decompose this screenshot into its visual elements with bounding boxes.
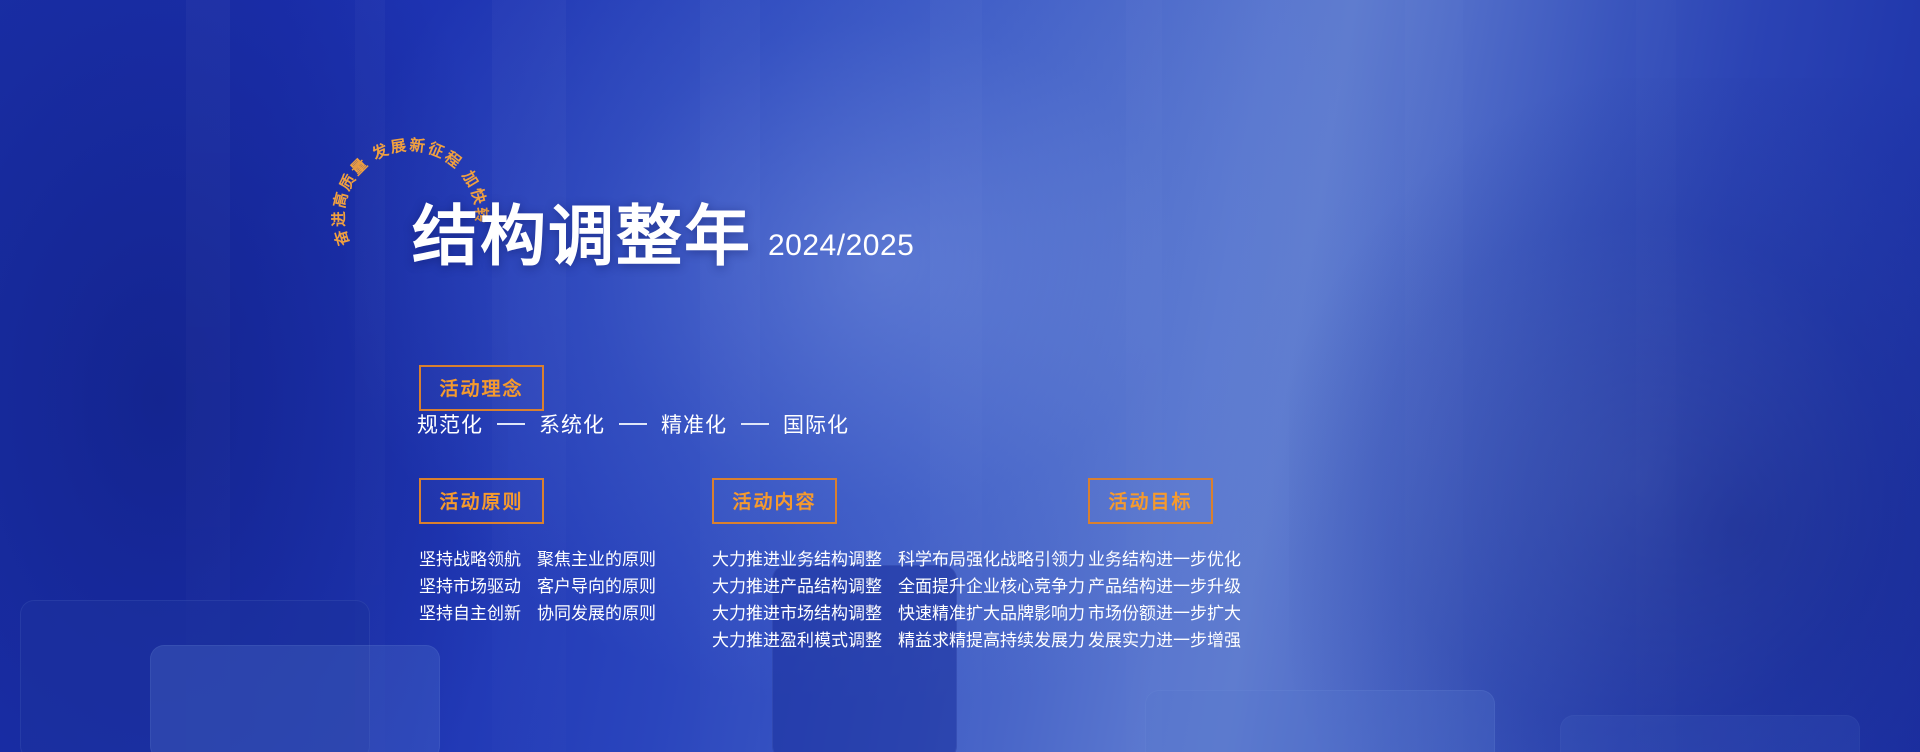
title-row: 结构调整年 2024/2025 [412,204,914,270]
list-item-text-a: 大力推进市场结构调整 [712,601,882,628]
campaign-banner: 奋进高质量 发展新征程 加快转型 增动能 结构调整年 2024/2025 活动理… [0,0,1920,752]
separator-dash [497,423,525,425]
concept-item: 规范化 [417,409,483,439]
list-item-text-a: 发展实力进一步增强 [1088,628,1241,655]
goals-list: 业务结构进一步优化 产品结构进一步升级 市场份额进一步扩大 发展实力进一步增强 [1088,547,1241,655]
list-item-text-a: 业务结构进一步优化 [1088,547,1241,574]
skyline-block [150,645,440,752]
list-item: 大力推进产品结构调整 全面提升企业核心竞争力 [712,574,1085,601]
background-glow-bottom-right [1289,78,1920,752]
contents-list: 大力推进业务结构调整 科学布局强化战略引领力 大力推进产品结构调整 全面提升企业… [712,547,1085,655]
column-principles: 活动原则 坚持战略领航 聚焦主业的原则 坚持市场驱动 客户导向的原则 坚持自主创… [419,478,656,628]
list-item-text-b: 快速精准扩大品牌影响力 [898,601,1085,628]
skyline-block [1560,715,1860,752]
light-band [1636,0,1676,752]
list-item: 坚持市场驱动 客户导向的原则 [419,574,656,601]
list-item-text-a: 产品结构进一步升级 [1088,574,1241,601]
list-item-text-a: 大力推进产品结构调整 [712,574,882,601]
concept-item: 国际化 [783,409,849,439]
list-item: 坚持自主创新 协同发展的原则 [419,601,656,628]
page-title: 结构调整年 [412,204,752,270]
list-item: 产品结构进一步升级 [1088,574,1241,601]
separator-dash [741,423,769,425]
principles-list: 坚持战略领航 聚焦主业的原则 坚持市场驱动 客户导向的原则 坚持自主创新 协同发… [419,547,656,628]
list-item: 大力推进盈利模式调整 精益求精提高持续发展力 [712,628,1085,655]
list-item-text-b: 协同发展的原则 [537,601,656,628]
concept-item-list: 规范化 系统化 精准化 国际化 [417,409,849,439]
list-item-text-b: 聚焦主业的原则 [537,547,656,574]
list-item: 大力推进市场结构调整 快速精准扩大品牌影响力 [712,601,1085,628]
section-label-principles: 活动原则 [419,478,544,524]
concept-item: 精准化 [661,409,727,439]
list-item-text-b: 客户导向的原则 [537,574,656,601]
list-item-text-a: 坚持战略领航 [419,547,521,574]
list-item: 大力推进业务结构调整 科学布局强化战略引领力 [712,547,1085,574]
list-item-text-a: 大力推进业务结构调整 [712,547,882,574]
list-item: 业务结构进一步优化 [1088,547,1241,574]
list-item-text-b: 精益求精提高持续发展力 [898,628,1085,655]
skyline-block [1145,690,1495,752]
background-glow-right [1235,75,1920,752]
list-item: 市场份额进一步扩大 [1088,601,1241,628]
section-label-concept: 活动理念 [419,365,544,411]
section-label-contents: 活动内容 [712,478,837,524]
light-band [1405,0,1463,752]
title-year: 2024/2025 [768,229,914,270]
section-label-goals: 活动目标 [1088,478,1213,524]
list-item-text-b: 全面提升企业核心竞争力 [898,574,1085,601]
column-contents: 活动内容 大力推进业务结构调整 科学布局强化战略引领力 大力推进产品结构调整 全… [712,478,1085,655]
separator-dash [619,423,647,425]
concept-item: 系统化 [539,409,605,439]
column-goals: 活动目标 业务结构进一步优化 产品结构进一步升级 市场份额进一步扩大 发展实力进… [1088,478,1241,655]
list-item-text-b: 科学布局强化战略引领力 [898,547,1085,574]
list-item: 坚持战略领航 聚焦主业的原则 [419,547,656,574]
list-item-text-a: 市场份额进一步扩大 [1088,601,1241,628]
list-item-text-a: 坚持自主创新 [419,601,521,628]
list-item-text-a: 坚持市场驱动 [419,574,521,601]
list-item: 发展实力进一步增强 [1088,628,1241,655]
list-item-text-a: 大力推进盈利模式调整 [712,628,882,655]
